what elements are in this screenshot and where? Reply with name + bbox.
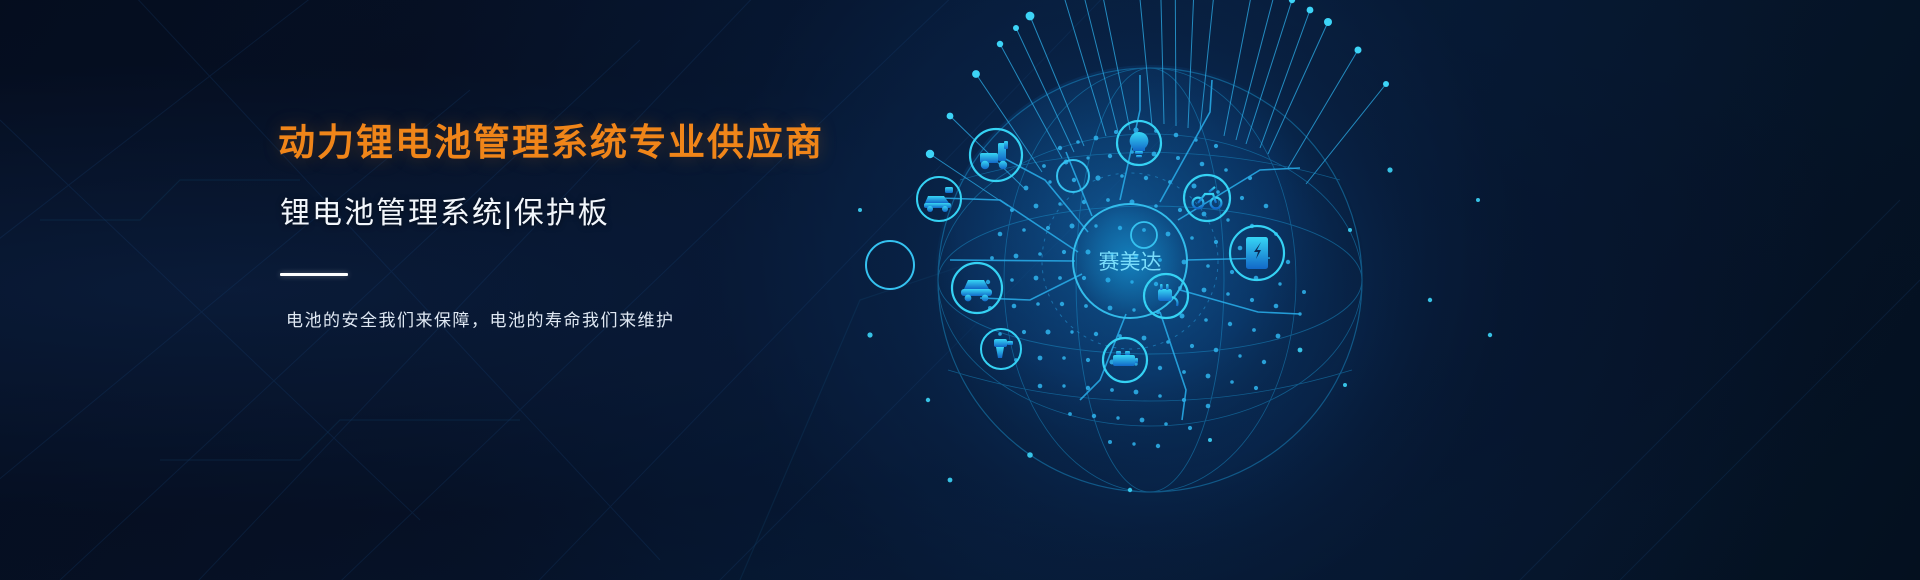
node-empty-right: [1131, 222, 1157, 248]
node-lightbulb: [1117, 121, 1161, 165]
node-battery-pack: [1103, 338, 1147, 382]
node-motorcycle: [1184, 175, 1230, 221]
node-empty-top: [1057, 160, 1089, 192]
page-subtitle: 锂电池管理系统|保护板: [280, 194, 818, 233]
node-car: [952, 263, 1002, 313]
node-drill: [981, 329, 1021, 369]
node-plug: [1144, 274, 1188, 318]
tagline-text: 电池的安全我们来保障，电池的寿命我们来维护: [286, 306, 818, 331]
node-empty-left: [866, 241, 914, 289]
node-car-charging: [917, 177, 961, 221]
node-scooter: [970, 129, 1022, 181]
network-globe-illustration: 赛美达: [830, 0, 1570, 580]
node-power-bank: [1230, 226, 1284, 280]
divider: [280, 273, 348, 276]
hero-banner: 赛美达: [0, 0, 1920, 580]
hero-copy: 动力锂电池管理系统专业供应商 锂电池管理系统|保护板 电池的安全我们来保障，电池…: [278, 120, 818, 331]
brand-center-label: 赛美达: [1099, 250, 1162, 274]
page-title: 动力锂电池管理系统专业供应商: [278, 120, 818, 166]
